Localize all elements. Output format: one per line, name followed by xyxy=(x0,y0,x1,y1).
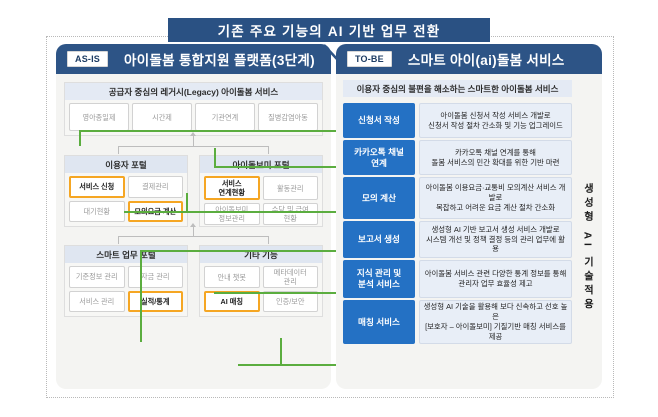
grey-connector-h-main2 xyxy=(118,236,268,237)
to-be-key-0[interactable]: 신청서 작성 xyxy=(343,103,415,138)
green-h-row5 xyxy=(214,292,342,294)
green-v-row2 xyxy=(214,148,216,167)
to-be-desc-3: 생성형 AI 기반 보고서 생성 서비스 개발로시스템 개선 및 정책 결정 등… xyxy=(419,221,572,258)
cell-smart-work-0[interactable]: 기준정보 관리 xyxy=(69,266,125,288)
to-be-panel-body: 이용자 중심의 불편을 해소하는 스마트한 아이돌봄 서비스 신청서 작성 아이… xyxy=(336,74,602,389)
grey-arrow-legacy xyxy=(190,132,196,136)
to-be-desc-2: 아이돌봄 이용요금·교통비 모의계산 서비스 개발로복잡하고 어려운 요금 계산… xyxy=(419,177,572,219)
cell-smart-work-2[interactable]: 서비스 관리 xyxy=(69,291,125,313)
group-smart-work-portal-heading: 스마트 업무 포털 xyxy=(65,246,187,263)
to-be-row-2: 모의 계산 아이돌봄 이용요금·교통비 모의계산 서비스 개발로복잡하고 어려운… xyxy=(343,177,572,219)
grey-connector-v-main xyxy=(193,136,194,146)
cell-caregiver-portal-1[interactable]: 활동관리 xyxy=(263,176,319,200)
grey-connector-v-right2 xyxy=(268,236,269,244)
to-be-key-1[interactable]: 카카오톡 채널연계 xyxy=(343,140,415,175)
generative-ai-side-label: 생성형 AI 기술적용 xyxy=(576,108,598,388)
to-be-desc-4: 아이돌봄 서비스 관련 다양한 통계 정보를 통해관리자 업무 효율성 제고 xyxy=(419,260,572,298)
cell-caregiver-portal-0[interactable]: 서비스연계현황 xyxy=(204,176,260,200)
group-etc-features-cells: 안내 챗봇 메타데이터관리 AI 매칭 인증/보안 xyxy=(204,266,318,312)
as-is-panel-header: AS-IS 아이돌봄 통합지원 플랫폼(3단계) xyxy=(56,44,331,74)
cell-legacy-2[interactable]: 기관연계 xyxy=(195,103,255,131)
cell-smart-work-3[interactable]: 실적/통계 xyxy=(128,291,184,313)
as-is-badge: AS-IS xyxy=(67,51,108,67)
grey-connector-v-right xyxy=(268,146,269,154)
group-user-portal-heading: 이용자 포털 xyxy=(65,156,187,173)
cell-smart-work-1[interactable]: 자금 관리 xyxy=(128,266,184,288)
to-be-desc-1: 카카오톡 채널 연계를 통해돌봄 서비스의 민간 확대를 위한 기반 마련 xyxy=(419,140,572,175)
group-caregiver-portal-heading: 아이돌보미 포털 xyxy=(200,156,322,173)
to-be-panel: TO-BE 스마트 아이(ai)돌봄 서비스 이용자 중심의 불편을 해소하는 … xyxy=(336,44,602,389)
group-user-portal-cells: 서비스 신청 결제관리 대기현황 모의요금 계산 xyxy=(69,176,183,222)
group-smart-work-portal: 스마트 업무 포털 기준정보 관리 자금 관리 서비스 관리 실적/통계 xyxy=(64,245,188,317)
group-user-portal: 이용자 포털 서비스 신청 결제관리 대기현황 모의요금 계산 xyxy=(64,155,188,227)
cell-user-portal-2[interactable]: 대기현황 xyxy=(69,201,125,223)
cell-user-portal-0[interactable]: 서비스 신청 xyxy=(69,176,125,198)
to-be-panel-title: 스마트 아이(ai)돌봄 서비스 xyxy=(408,49,565,69)
grey-connector-v-left2 xyxy=(118,236,119,244)
cell-legacy-1[interactable]: 시간제 xyxy=(132,103,192,131)
to-be-key-5[interactable]: 매칭 서비스 xyxy=(343,300,415,344)
to-be-desc-5: 생성형 AI 기술을 활용해 보다 신속하고 선호 높은[보호자 – 아이돌보미… xyxy=(419,300,572,344)
to-be-row-5: 매칭 서비스 생성형 AI 기술을 활용해 보다 신속하고 선호 높은[보호자 … xyxy=(343,300,572,344)
diagram-title-bar: 기존 주요 기능의 AI 기반 업무 전환 xyxy=(168,18,490,42)
green-v-row3-tap xyxy=(186,193,188,212)
group-etc-features: 기타 기능 안내 챗봇 메타데이터관리 AI 매칭 인증/보안 xyxy=(199,245,323,317)
group-smart-work-portal-cells: 기준정보 관리 자금 관리 서비스 관리 실적/통계 xyxy=(69,266,183,312)
group-legacy-heading: 공급자 중심의 레거시(Legacy) 아이돌봄 서비스 xyxy=(65,83,322,100)
to-be-heading: 이용자 중심의 불편을 해소하는 스마트한 아이돌봄 서비스 xyxy=(343,80,572,97)
to-be-badge: TO-BE xyxy=(347,51,392,67)
as-is-panel: AS-IS 아이돌봄 통합지원 플랫폼(3단계) 공급자 중심의 레거시(Leg… xyxy=(56,44,331,389)
green-v-row6 xyxy=(280,338,282,365)
cell-etc-1[interactable]: 메타데이터관리 xyxy=(263,266,319,288)
green-v-row1 xyxy=(79,130,81,146)
group-etc-features-heading: 기타 기능 xyxy=(200,246,322,263)
panel-divider-notch xyxy=(323,44,349,70)
grey-connector-v-main2 xyxy=(193,227,194,236)
green-h-row3 xyxy=(124,211,342,213)
group-caregiver-portal-cells: 서비스연계현황 활동관리 아이돌보미정보관리 수당 및 급여현황 xyxy=(204,176,318,222)
to-be-row-1: 카카오톡 채널연계 카카오톡 채널 연계를 통해돌봄 서비스의 민간 확대를 위… xyxy=(343,140,572,175)
to-be-desc-0: 아이돌봄 신청서 작성 서비스 개발로신청서 작성 절차 간소화 및 기능 업그… xyxy=(419,103,572,138)
cell-legacy-3[interactable]: 질병감염아동 xyxy=(258,103,318,131)
cell-user-portal-1[interactable]: 결제관리 xyxy=(128,176,184,198)
to-be-key-2[interactable]: 모의 계산 xyxy=(343,177,415,219)
green-h-row4 xyxy=(140,250,342,252)
page-title: 기존 주요 기능의 AI 기반 업무 전환 xyxy=(218,20,441,40)
green-h-row1 xyxy=(79,130,342,132)
as-is-panel-body: 공급자 중심의 레거시(Legacy) 아이돌봄 서비스 영아종일제 시간제 기… xyxy=(56,74,331,389)
green-v-row4 xyxy=(140,250,142,342)
grey-connector-h-main xyxy=(118,146,268,147)
grey-connector-v-left xyxy=(118,146,119,154)
to-be-row-3: 보고서 생성 생성형 AI 기반 보고서 생성 서비스 개발로시스템 개선 및 … xyxy=(343,221,572,258)
cell-etc-0[interactable]: 안내 챗봇 xyxy=(204,266,260,288)
cell-legacy-0[interactable]: 영아종일제 xyxy=(69,103,129,131)
diagram-root: 기존 주요 기능의 AI 기반 업무 전환 AS-IS 아이돌봄 통합지원 플랫… xyxy=(0,0,658,417)
to-be-key-3[interactable]: 보고서 생성 xyxy=(343,221,415,258)
grey-arrow-midrow xyxy=(190,223,196,227)
to-be-key-4[interactable]: 지식 관리 및분석 서비스 xyxy=(343,260,415,298)
cell-etc-3[interactable]: 인증/보안 xyxy=(263,291,319,312)
cell-caregiver-portal-2[interactable]: 아이돌보미정보관리 xyxy=(204,203,260,225)
to-be-row-4: 지식 관리 및분석 서비스 아이돌봄 서비스 관련 다양한 통계 정보를 통해관… xyxy=(343,260,572,298)
group-legacy: 공급자 중심의 레거시(Legacy) 아이돌봄 서비스 영아종일제 시간제 기… xyxy=(64,82,323,136)
cell-caregiver-portal-3[interactable]: 수당 및 급여현황 xyxy=(263,203,319,225)
group-legacy-cells: 영아종일제 시간제 기관연계 질병감염아동 xyxy=(69,103,318,131)
cell-etc-2[interactable]: AI 매칭 xyxy=(204,291,260,312)
as-is-panel-title: 아이돌봄 통합지원 플랫폼(3단계) xyxy=(124,49,315,69)
to-be-panel-header: TO-BE 스마트 아이(ai)돌봄 서비스 xyxy=(336,44,602,74)
green-h-row6 xyxy=(238,364,342,366)
to-be-row-0: 신청서 작성 아이돌봄 신청서 작성 서비스 개발로신청서 작성 절차 간소화 … xyxy=(343,103,572,138)
green-h-row2 xyxy=(214,166,342,168)
